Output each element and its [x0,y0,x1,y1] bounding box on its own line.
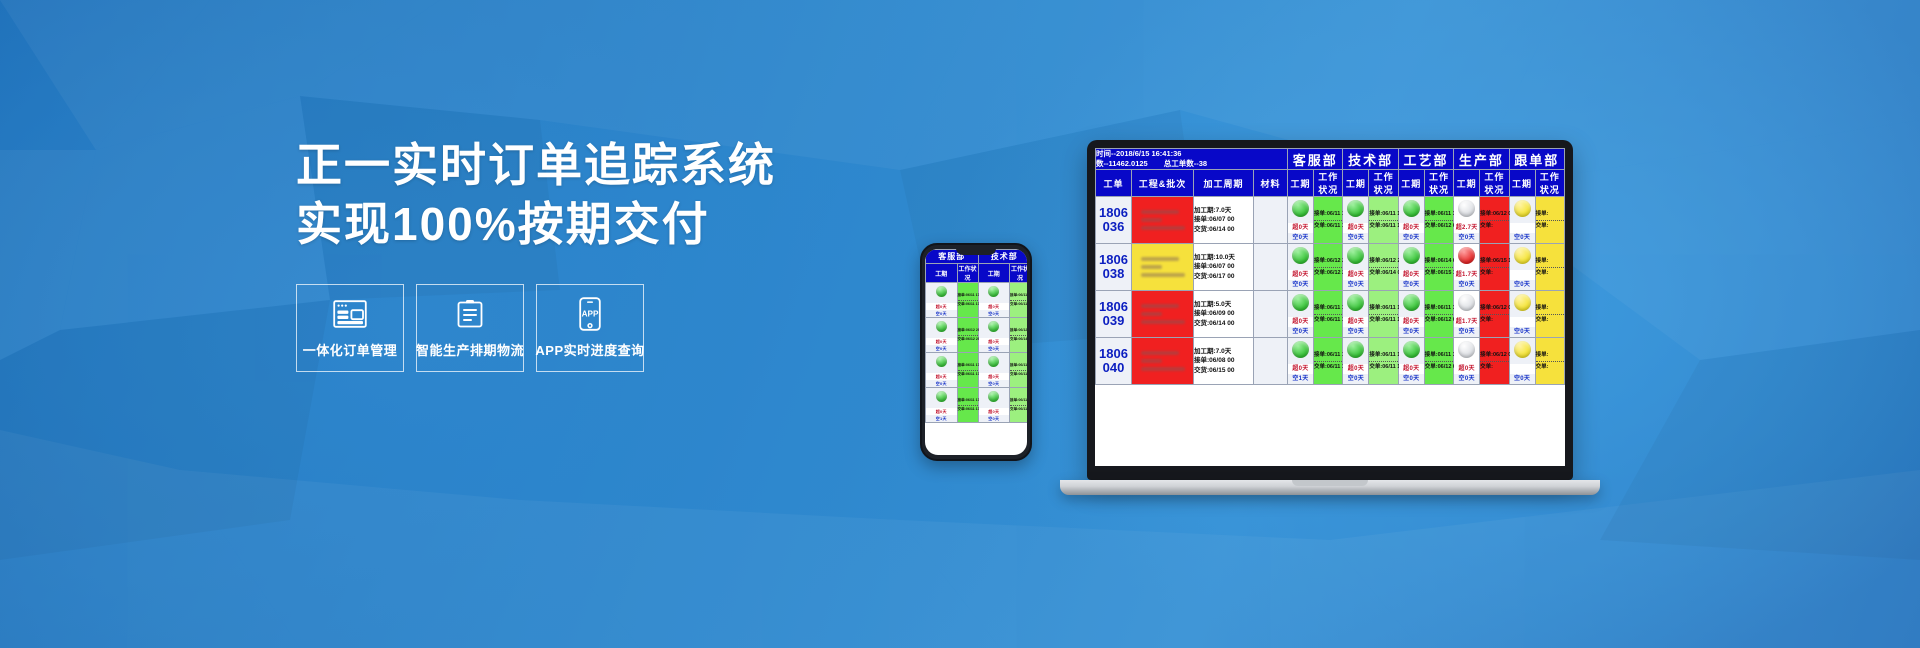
received-date: 接单:06/11 17 [1010,293,1027,298]
material-cell [1254,338,1288,385]
status-indicator-icon [1458,200,1475,217]
order-tracking-table: 客服部技术部工期工作状况工期工作状况超0天空0天接单:06/11 17交单:06… [925,249,1027,423]
duration-cell-1[interactable]: 超0天空1天 [1288,338,1314,385]
work-status-cell-2[interactable]: 接单:06/11 17交单:06/11 17 [1010,353,1028,388]
subheader-duration-1: 工期 [926,264,958,283]
idle-tag: 空0天 [926,380,957,387]
duration-cell-1[interactable]: 超0天空0天 [1288,244,1314,291]
delivered-date: 交单:06/11 17 [958,372,978,377]
received-date: 接单:06/12 20 [958,328,978,333]
received-date: 接单:06/11 17 [1425,304,1453,313]
work-status-cell-1[interactable]: 接单:06/12 20交单:06/12 20 [957,318,978,353]
processing-cycle-cell: 加工期:5.0天接单:06/09 00交货:06/14 00 [1194,291,1254,338]
board-header-row: 时间--2018/6/15 16:41:36数--11462.0125总工单数-… [1096,149,1565,170]
overdue-tag: 超0天 [1343,364,1368,374]
duration-cell-5[interactable]: 空0天 [1509,291,1535,338]
phone-erp-board[interactable]: 客服部技术部工期工作状况工期工作状况超0天空0天接单:06/11 17交单:06… [925,249,1027,455]
work-order-number: 1806040 [1096,338,1132,385]
subheader-status-5: 工作状况 [1535,170,1564,197]
department-header-5: 跟单部 [1509,149,1564,170]
status-indicator-icon [936,321,947,332]
status-indicator-icon [1403,247,1420,264]
column-header-4: 材料 [1254,170,1288,197]
duration-cell-3[interactable]: 超0天空0天 [1398,338,1424,385]
table-row[interactable]: 超0天空0天接单:06/12 20交单:06/12 20超0天空0天接单:06/… [926,318,1028,353]
project-batch-cell [1132,197,1194,244]
delivered-date: 交单:06/11 17 [1369,222,1397,231]
duration-cell-2[interactable]: 超0天空0天 [1343,338,1369,385]
duration-cell-3[interactable]: 超0天空0天 [1398,197,1424,244]
project-batch-cell [1132,338,1194,385]
duration-cell-2[interactable]: 超0天空0天 [978,388,1010,423]
status-indicator-icon [1458,247,1475,264]
laptop-lid: 时间--2018/6/15 16:41:36数--11462.0125总工单数-… [1087,140,1573,480]
status-indicator-icon [1458,341,1475,358]
idle-tag: 空0天 [1454,327,1479,337]
status-indicator-icon [1403,200,1420,217]
delivered-date: 交单:06/12 09 [1425,222,1453,231]
overdue-tag: 超0天 [979,408,1010,415]
received-date: 接单:06/11 17 [1314,304,1342,313]
order-tracking-table: 时间--2018/6/15 16:41:36数--11462.0125总工单数-… [1095,148,1565,385]
overdue-tag [1510,223,1535,233]
received-date: 接单:06/12 09 [1480,351,1508,360]
idle-tag: 空0天 [979,415,1010,422]
idle-tag: 空0天 [1510,374,1535,384]
status-indicator-icon [1347,200,1364,217]
delivered-date: 交单: [1480,316,1508,325]
column-header-1: 工单 [1096,170,1132,197]
subheader-duration-4: 工期 [1454,170,1480,197]
received-date: 接单:06/11 17 [958,398,978,403]
received-date: 接单:06/11 17 [1369,210,1397,219]
delivered-date: 交单: [1480,363,1508,372]
phone-mockup: 客服部技术部工期工作状况工期工作状况超0天空0天接单:06/11 17交单:06… [920,243,1032,461]
work-status-cell-2[interactable]: 接单:06/12 20交单:06/14 04 [1010,318,1028,353]
delivered-date: 交单:06/11 17 [1369,363,1397,372]
idle-tag: 空0天 [1510,327,1535,337]
duration-cell-2[interactable]: 超0天空0天 [978,283,1010,318]
work-status-cell-2[interactable]: 接单:06/11 17交单:06/11 17 [1010,388,1028,423]
board-total-orders: 总工单数--38 [1164,159,1207,169]
work-status-cell-1[interactable]: 接单:06/11 17交单:06/11 17 [1314,197,1343,244]
received-date: 接单:06/11 17 [1010,398,1027,403]
board-timestamp: 时间--2018/6/15 16:41:36 [1096,149,1287,159]
department-header-2: 技术部 [1343,149,1398,170]
work-status-cell-5[interactable]: 接单:交单: [1535,338,1564,385]
work-status-cell-2[interactable]: 接单:06/11 17交单:06/11 17 [1369,291,1398,338]
table-row[interactable]: 1806040加工期:7.0天接单:06/08 00交货:06/15 00超0天… [1096,338,1565,385]
idle-tag: 空0天 [1399,327,1424,337]
erp-order-tracking-board[interactable]: 时间--2018/6/15 16:41:36数--11462.0125总工单数-… [1095,148,1565,466]
delivered-date: 交单:06/11 17 [1010,302,1027,307]
overdue-tag [1510,364,1535,374]
overdue-tag: 超0天 [1399,270,1424,280]
received-date: 接单: [1536,257,1564,266]
material-cell [1254,197,1288,244]
overdue-tag: 超0天 [1399,364,1424,374]
overdue-tag: 超0天 [1288,317,1313,327]
status-indicator-icon [1347,341,1364,358]
table-row[interactable]: 超0天空0天接单:06/11 17交单:06/11 17超0天空0天接单:06/… [926,283,1028,318]
subheader-status-2: 工作状况 [1369,170,1398,197]
work-order-number: 1806038 [1096,244,1132,291]
duration-cell-1[interactable]: 超0天空0天 [1288,291,1314,338]
overdue-tag: 超0天 [979,373,1010,380]
laptop-base [1060,480,1600,495]
duration-cell-2[interactable]: 超0天空0天 [1343,197,1369,244]
delivered-date: 交单: [1536,222,1564,231]
overdue-tag: 超0天 [1343,317,1368,327]
overdue-tag: 超0天 [1454,364,1479,374]
duration-cell-5[interactable]: 空0天 [1509,197,1535,244]
duration-cell-1[interactable]: 超0天空1天 [926,388,958,423]
idle-tag: 空0天 [926,345,957,352]
status-indicator-icon [1403,341,1420,358]
table-row[interactable]: 1806036加工期:7.0天接单:06/07 00交货:06/14 00超0天… [1096,197,1565,244]
idle-tag: 空0天 [926,310,957,317]
overdue-tag [1510,317,1535,327]
subheader-duration-3: 工期 [1398,170,1424,197]
received-date: 接单:06/12 20 [1369,257,1397,266]
idle-tag: 空0天 [1343,374,1368,384]
work-status-cell-5[interactable]: 接单:交单: [1535,291,1564,338]
work-status-cell-4[interactable]: 接单:06/15 16交单: [1480,244,1509,291]
status-indicator-icon [1292,247,1309,264]
department-header-1: 客服部 [1288,149,1343,170]
overdue-tag: 超0天 [1399,223,1424,233]
board-count: 数--11462.0125 [1096,159,1148,169]
delivered-date: 交单:06/15 16 [1425,269,1453,278]
duration-cell-5[interactable]: 空0天 [1509,338,1535,385]
status-indicator-icon [1514,200,1531,217]
status-indicator-icon [1403,294,1420,311]
work-status-cell-2[interactable]: 接单:06/12 20交单:06/14 04 [1369,244,1398,291]
processing-cycle-cell: 加工期:7.0天接单:06/08 00交货:06/15 00 [1194,338,1254,385]
status-indicator-icon [1292,341,1309,358]
status-indicator-icon [988,391,999,402]
work-status-cell-4[interactable]: 接单:06/12 09交单: [1480,338,1509,385]
table-row[interactable]: 超0天空1天接单:06/11 17交单:06/11 17超0天空0天接单:06/… [926,388,1028,423]
work-status-cell-1[interactable]: 接单:06/11 17交单:06/11 17 [957,283,978,318]
received-date: 接单:06/12 20 [1010,328,1027,333]
column-header-3: 加工周期 [1194,170,1254,197]
board-info-cell: 时间--2018/6/15 16:41:36数--11462.0125总工单数-… [1096,149,1288,170]
delivered-date: 交单:06/12 20 [1314,269,1342,278]
device-mockups: 客服部技术部工期工作状况工期工作状况超0天空0天接单:06/11 17交单:06… [0,0,1920,648]
phone-notch [956,247,996,255]
overdue-tag: 超1.7天 [1454,317,1479,327]
delivered-date: 交单:06/11 17 [958,407,978,412]
status-indicator-icon [1347,294,1364,311]
project-batch-cell [1132,244,1194,291]
subheader-duration-5: 工期 [1509,170,1535,197]
idle-tag: 空0天 [979,345,1010,352]
status-indicator-icon [1458,294,1475,311]
work-status-cell-5[interactable]: 接单:交单: [1535,244,1564,291]
delivered-date: 交单: [1536,269,1564,278]
idle-tag: 空1天 [926,415,957,422]
duration-cell-2[interactable]: 超0天空0天 [1343,244,1369,291]
work-status-cell-1[interactable]: 接单:06/11 17交单:06/11 17 [1314,338,1343,385]
received-date: 接单:06/12 09 [1480,304,1508,313]
delivered-date: 交单:06/11 17 [1314,363,1342,372]
received-date: 接单: [1536,351,1564,360]
received-date: 接单:06/11 17 [1010,363,1027,368]
received-date: 接单:06/11 17 [958,293,978,298]
received-date: 接单:06/11 17 [1425,210,1453,219]
received-date: 接单:06/11 17 [958,363,978,368]
board-subheader-row: 工单工程&批次加工周期材料工期工作状况工期工作状况工期工作状况工期工作状况工期工… [1096,170,1565,197]
idle-tag: 空0天 [979,310,1010,317]
received-date: 接单:06/11 17 [1314,351,1342,360]
idle-tag: 空0天 [1510,280,1535,290]
idle-tag: 空0天 [1343,280,1368,290]
work-status-cell-1[interactable]: 接单:06/11 17交单:06/11 17 [957,353,978,388]
duration-cell-5[interactable]: 空0天 [1509,244,1535,291]
duration-cell-4[interactable]: 超0天空0天 [1454,338,1480,385]
work-order-number: 1806039 [1096,291,1132,338]
duration-cell-4[interactable]: 超2.7天空0天 [1454,197,1480,244]
overdue-tag: 超0天 [926,408,957,415]
work-status-cell-3[interactable]: 接单:06/11 17交单:06/12 09 [1424,338,1453,385]
status-indicator-icon [988,286,999,297]
delivered-date: 交单:06/11 17 [1314,222,1342,231]
status-indicator-icon [988,321,999,332]
overdue-tag: 超0天 [979,303,1010,310]
work-status-cell-2[interactable]: 接单:06/11 17交单:06/11 17 [1010,283,1028,318]
overdue-tag: 超0天 [926,373,957,380]
received-date: 接单:06/11 17 [1369,351,1397,360]
duration-cell-1[interactable]: 超0天空0天 [926,283,958,318]
work-status-cell-3[interactable]: 接单:06/14 04交单:06/15 16 [1424,244,1453,291]
idle-tag: 空0天 [979,380,1010,387]
received-date: 接单:06/15 16 [1480,257,1508,266]
subheader-status-1: 工作状况 [1314,170,1343,197]
status-indicator-icon [1514,294,1531,311]
work-status-cell-4[interactable]: 接单:06/12 09交单: [1480,291,1509,338]
idle-tag: 空1天 [1288,374,1313,384]
laptop-screen: 时间--2018/6/15 16:41:36数--11462.0125总工单数-… [1095,148,1565,466]
received-date: 接单:06/11 17 [1425,351,1453,360]
overdue-tag: 超0天 [1288,223,1313,233]
delivered-date: 交单:06/11 17 [958,302,978,307]
work-status-cell-1[interactable]: 接单:06/11 17交单:06/11 17 [957,388,978,423]
overdue-tag: 超0天 [1288,270,1313,280]
work-status-cell-1[interactable]: 接单:06/12 20交单:06/12 20 [1314,244,1343,291]
status-indicator-icon [936,391,947,402]
delivered-date: 交单: [1480,222,1508,231]
overdue-tag: 超2.7天 [1454,223,1479,233]
subheader-status-3: 工作状况 [1424,170,1453,197]
project-batch-cell [1132,291,1194,338]
received-date: 接单: [1536,304,1564,313]
overdue-tag: 超0天 [926,303,957,310]
idle-tag: 空0天 [1288,327,1313,337]
material-cell [1254,244,1288,291]
duration-cell-1[interactable]: 超0天空0天 [1288,197,1314,244]
delivered-date: 交单:06/11 17 [1369,316,1397,325]
subheader-status-1: 工作状况 [957,264,978,283]
delivered-date: 交单:06/11 17 [1314,316,1342,325]
delivered-date: 交单:06/14 04 [1369,269,1397,278]
status-indicator-icon [1514,341,1531,358]
delivered-date: 交单:06/12 09 [1425,363,1453,372]
delivered-date: 交单:06/12 09 [1425,316,1453,325]
received-date: 接单:06/14 04 [1425,257,1453,266]
overdue-tag: 超0天 [1343,223,1368,233]
received-date: 接单:06/11 17 [1314,210,1342,219]
subheader-duration-2: 工期 [1343,170,1369,197]
delivered-date: 交单:06/14 04 [1010,337,1027,342]
column-header-2: 工程&批次 [1132,170,1194,197]
idle-tag: 空0天 [1510,233,1535,243]
delivered-date: 交单: [1480,269,1508,278]
idle-tag: 空0天 [1454,374,1479,384]
delivered-date: 交单: [1536,316,1564,325]
overdue-tag: 超1.7天 [1454,270,1479,280]
work-status-cell-1[interactable]: 接单:06/11 17交单:06/11 17 [1314,291,1343,338]
status-indicator-icon [936,286,947,297]
overdue-tag: 超0天 [1399,317,1424,327]
duration-cell-1[interactable]: 超0天空0天 [926,353,958,388]
subheader-duration-1: 工期 [1288,170,1314,197]
received-date: 接单:06/11 17 [1369,304,1397,313]
idle-tag: 空0天 [1399,280,1424,290]
table-row[interactable]: 超0天空0天接单:06/11 17交单:06/11 17超0天空0天接单:06/… [926,353,1028,388]
phone-screen: 客服部技术部工期工作状况工期工作状况超0天空0天接单:06/11 17交单:06… [925,249,1027,455]
subheader-duration-2: 工期 [978,264,1010,283]
overdue-tag: 超0天 [1343,270,1368,280]
material-cell [1254,291,1288,338]
overdue-tag: 超0天 [926,338,957,345]
delivered-date: 交单:06/11 17 [1010,372,1027,377]
status-indicator-icon [1292,294,1309,311]
duration-cell-4[interactable]: 超1.7天空0天 [1454,244,1480,291]
overdue-tag [1510,270,1535,280]
idle-tag: 空0天 [1343,327,1368,337]
board-subheader-row: 工期工作状况工期工作状况 [926,264,1028,283]
subheader-status-2: 工作状况 [1010,264,1028,283]
idle-tag: 空0天 [1399,374,1424,384]
table-row[interactable]: 1806039加工期:5.0天接单:06/09 00交货:06/14 00超0天… [1096,291,1565,338]
idle-tag: 空0天 [1343,233,1368,243]
department-header-3: 工艺部 [1398,149,1453,170]
work-status-cell-3[interactable]: 接单:06/11 17交单:06/12 09 [1424,291,1453,338]
status-indicator-icon [1292,200,1309,217]
work-status-cell-4[interactable]: 接单:06/12 09交单: [1480,197,1509,244]
overdue-tag: 超0天 [979,338,1010,345]
delivered-date: 交单:06/12 20 [958,337,978,342]
idle-tag: 空0天 [1288,280,1313,290]
delivered-date: 交单: [1536,363,1564,372]
department-header-4: 生产部 [1454,149,1509,170]
duration-cell-3[interactable]: 超0天空0天 [1398,291,1424,338]
received-date: 接单:06/12 20 [1314,257,1342,266]
status-indicator-icon [1514,247,1531,264]
status-indicator-icon [988,356,999,367]
duration-cell-3[interactable]: 超0天空0天 [1398,244,1424,291]
subheader-status-4: 工作状况 [1480,170,1509,197]
status-indicator-icon [936,356,947,367]
duration-cell-4[interactable]: 超1.7天空0天 [1454,291,1480,338]
work-status-cell-2[interactable]: 接单:06/11 17交单:06/11 17 [1369,338,1398,385]
processing-cycle-cell: 加工期:10.0天接单:06/07 00交货:06/17 00 [1194,244,1254,291]
work-order-number: 1806036 [1096,197,1132,244]
table-row[interactable]: 1806038加工期:10.0天接单:06/07 00交货:06/17 00超0… [1096,244,1565,291]
duration-cell-2[interactable]: 超0天空0天 [978,353,1010,388]
idle-tag: 空0天 [1454,233,1479,243]
processing-cycle-cell: 加工期:7.0天接单:06/07 00交货:06/14 00 [1194,197,1254,244]
duration-cell-2[interactable]: 超0天空0天 [978,318,1010,353]
received-date: 接单:06/12 09 [1480,210,1508,219]
work-status-cell-5[interactable]: 接单:交单: [1535,197,1564,244]
work-status-cell-3[interactable]: 接单:06/11 17交单:06/12 09 [1424,197,1453,244]
work-status-cell-2[interactable]: 接单:06/11 17交单:06/11 17 [1369,197,1398,244]
duration-cell-2[interactable]: 超0天空0天 [1343,291,1369,338]
duration-cell-1[interactable]: 超0天空0天 [926,318,958,353]
idle-tag: 空0天 [1288,233,1313,243]
status-indicator-icon [1347,247,1364,264]
idle-tag: 空0天 [1454,280,1479,290]
idle-tag: 空0天 [1399,233,1424,243]
laptop-mockup: 时间--2018/6/15 16:41:36数--11462.0125总工单数-… [1060,140,1600,495]
overdue-tag: 超0天 [1288,364,1313,374]
delivered-date: 交单:06/11 17 [1010,407,1027,412]
received-date: 接单: [1536,210,1564,219]
